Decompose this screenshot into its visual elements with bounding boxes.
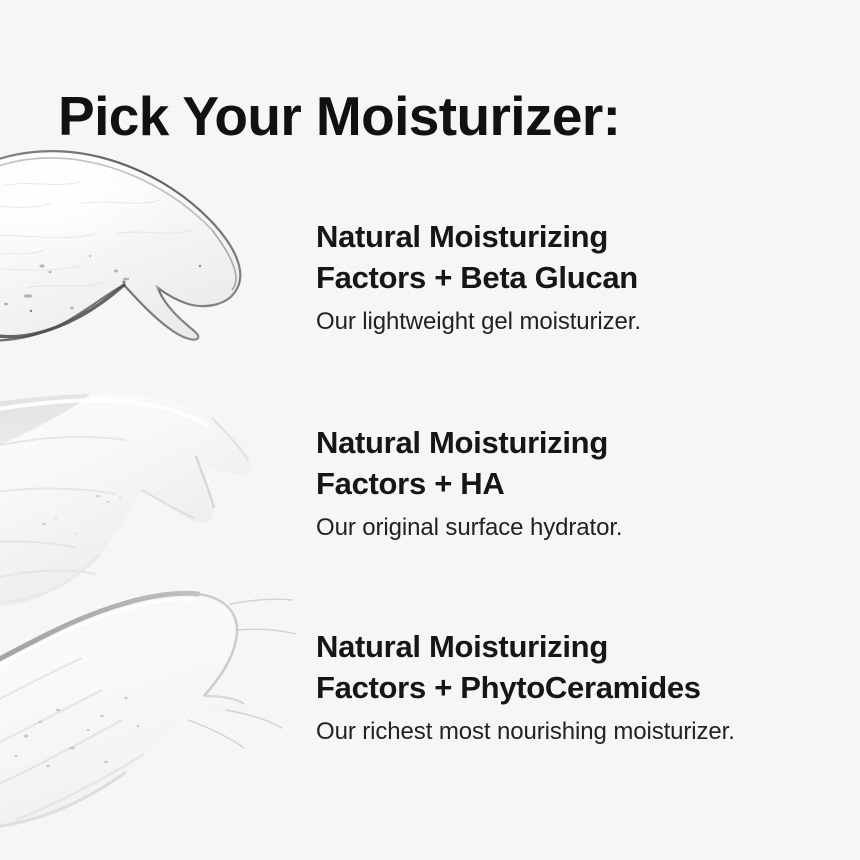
rich-cream-swatch bbox=[0, 570, 300, 835]
product-description: Our original surface hydrator. bbox=[316, 513, 836, 543]
product-row: Natural Moisturizing Factors + PhytoCera… bbox=[316, 626, 836, 747]
product-name: Natural Moisturizing Factors + Beta Gluc… bbox=[316, 216, 836, 298]
product-row: Natural Moisturizing Factors + HA Our or… bbox=[316, 422, 836, 543]
page-title: Pick Your Moisturizer: bbox=[58, 85, 620, 147]
clear-gel-swatch bbox=[0, 138, 270, 368]
product-description: Our richest most nourishing moisturizer. bbox=[316, 717, 836, 747]
product-name: Natural Moisturizing Factors + PhytoCera… bbox=[316, 626, 836, 708]
product-row: Natural Moisturizing Factors + Beta Gluc… bbox=[316, 216, 836, 337]
moisturizer-comparison-poster: Pick Your Moisturizer: bbox=[0, 0, 860, 860]
white-cream-swatch bbox=[0, 392, 280, 607]
product-name: Natural Moisturizing Factors + HA bbox=[316, 422, 836, 504]
product-description: Our lightweight gel moisturizer. bbox=[316, 307, 836, 337]
